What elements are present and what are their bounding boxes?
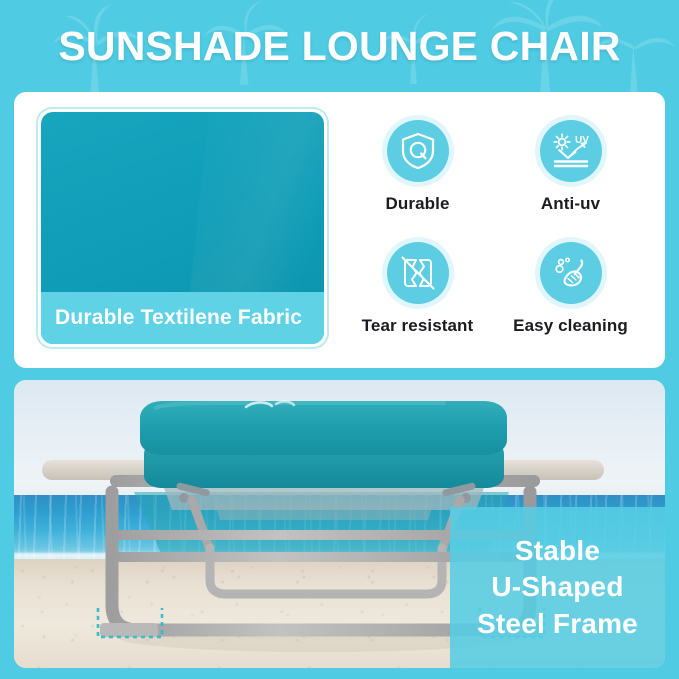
callout-line-2: U-Shaped <box>477 569 638 605</box>
feature-item-easy-cleaning[interactable]: Easy cleaning <box>497 231 644 347</box>
feature-label: Durable <box>386 194 450 214</box>
fabric-caption-bar: Durable Textilene Fabric <box>41 292 324 344</box>
frame-callout-text: Stable U-Shaped Steel Frame <box>477 533 638 642</box>
cleaning-brush-icon <box>540 242 602 304</box>
feature-label: Easy cleaning <box>513 316 628 336</box>
product-infographic: SUNSHADE LOUNGE CHAIR Durable Textilene … <box>0 0 679 679</box>
tear-resistant-icon <box>387 242 449 304</box>
callout-line-3: Steel Frame <box>477 606 638 642</box>
frame-callout: Stable U-Shaped Steel Frame <box>450 507 665 668</box>
features-card: Durable Textilene Fabric Durable <box>14 92 665 368</box>
callout-line-1: Stable <box>477 533 638 569</box>
product-photo-panel: Stable U-Shaped Steel Frame <box>14 380 665 668</box>
feature-label: Anti-uv <box>541 194 600 214</box>
fabric-swatch-panel: Durable Textilene Fabric <box>38 109 327 347</box>
beach-scene: Stable U-Shaped Steel Frame <box>14 380 665 668</box>
feature-label: Tear resistant <box>362 316 474 336</box>
page-title: SUNSHADE LOUNGE CHAIR <box>58 23 620 70</box>
feature-grid: Durable UV <box>344 109 644 347</box>
feature-item-anti-uv[interactable]: UV Anti-uv <box>497 109 644 225</box>
shield-quality-icon <box>387 120 449 182</box>
anti-uv-sun-icon: UV <box>540 120 602 182</box>
feature-item-durable[interactable]: Durable <box>344 109 491 225</box>
header-band: SUNSHADE LOUNGE CHAIR <box>0 0 679 92</box>
feature-item-tear-resistant[interactable]: Tear resistant <box>344 231 491 347</box>
fabric-swatch: Durable Textilene Fabric <box>41 112 324 344</box>
fabric-caption-label: Durable Textilene Fabric <box>55 306 302 330</box>
